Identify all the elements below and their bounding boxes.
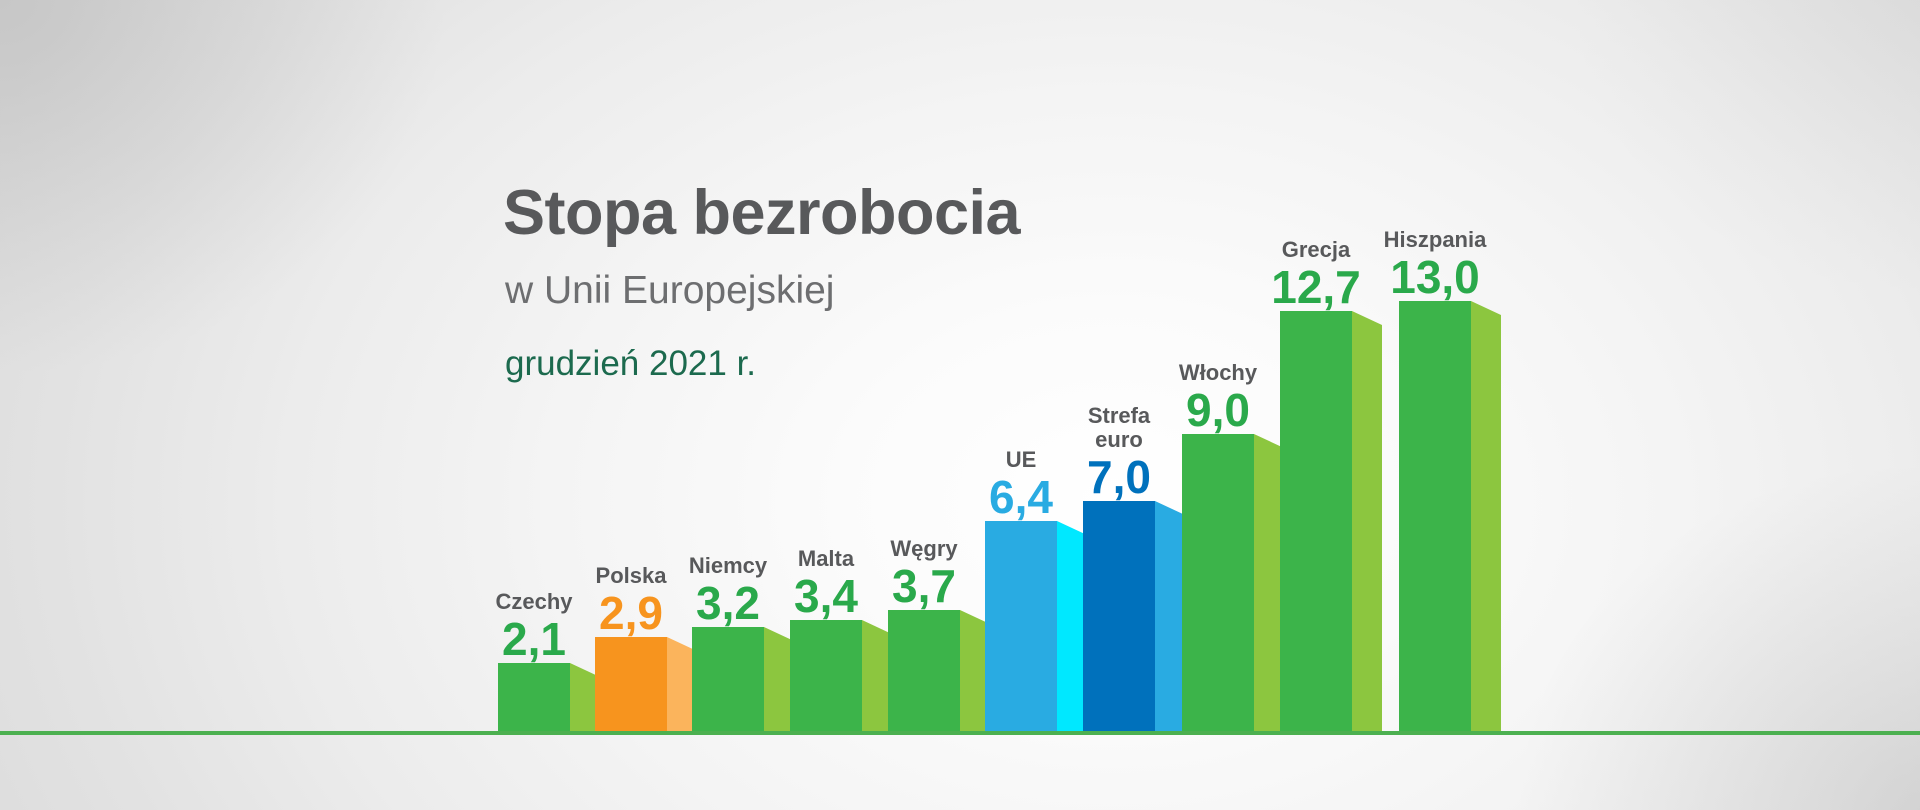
bar-label: Czechy: [419, 590, 649, 614]
bar-front-face: [1399, 301, 1471, 733]
headline-block: Stopa bezrobocia w Unii Europejskiej gru…: [503, 182, 1020, 381]
chart-baseline: [0, 731, 1920, 735]
bar-front-face: [692, 627, 764, 733]
bar-ue: UE6,4: [985, 521, 1057, 733]
bar-label: Polska: [516, 564, 746, 588]
bar-front-face: [498, 663, 570, 733]
bar-front-face: [1182, 434, 1254, 733]
bar-caption: Hiszpania13,0: [1320, 228, 1550, 301]
bar-front-face: [595, 637, 667, 733]
bar-value: 12,7: [1201, 263, 1431, 311]
bar-side-face: [1155, 501, 1185, 733]
bar-włochy: Włochy9,0: [1182, 434, 1254, 733]
bar-front-face: [790, 620, 862, 733]
bar-węgry: Węgry3,7: [888, 610, 960, 733]
page-date: grudzień 2021 r.: [505, 346, 1020, 381]
bar-front-face: [985, 521, 1057, 733]
bar-polska: Polska2,9: [595, 637, 667, 733]
bar-label: Niemcy: [613, 554, 843, 578]
bar-front-face: [888, 610, 960, 733]
bar-grecja: Grecja12,7: [1280, 311, 1352, 733]
bar-czechy: Czechy2,1: [498, 663, 570, 733]
bar-strefa-euro: Strefa euro7,0: [1083, 501, 1155, 733]
bar-caption: Grecja12,7: [1201, 238, 1431, 311]
bar-malta: Malta3,4: [790, 620, 862, 733]
page-subtitle: w Unii Europejskiej: [505, 271, 1020, 310]
bar-front-face: [1083, 501, 1155, 733]
bar-chart: Czechy2,1Polska2,9Niemcy3,2Malta3,4Węgry…: [0, 0, 1920, 810]
bar-caption: Niemcy3,2: [613, 554, 843, 627]
bar-hiszpania: Hiszpania13,0: [1399, 301, 1471, 733]
bar-label: Grecja: [1201, 238, 1431, 262]
infographic-canvas: Stopa bezrobocia w Unii Europejskiej gru…: [0, 0, 1920, 810]
page-title: Stopa bezrobocia: [503, 182, 1020, 245]
bar-side-face: [1471, 301, 1501, 733]
bar-niemcy: Niemcy3,2: [692, 627, 764, 733]
bar-side-face: [1352, 311, 1382, 733]
bar-label: Hiszpania: [1320, 228, 1550, 252]
bar-label: Malta: [711, 547, 941, 571]
bar-label: UE: [906, 448, 1136, 472]
bar-front-face: [1280, 311, 1352, 733]
bar-value: 13,0: [1320, 253, 1550, 301]
